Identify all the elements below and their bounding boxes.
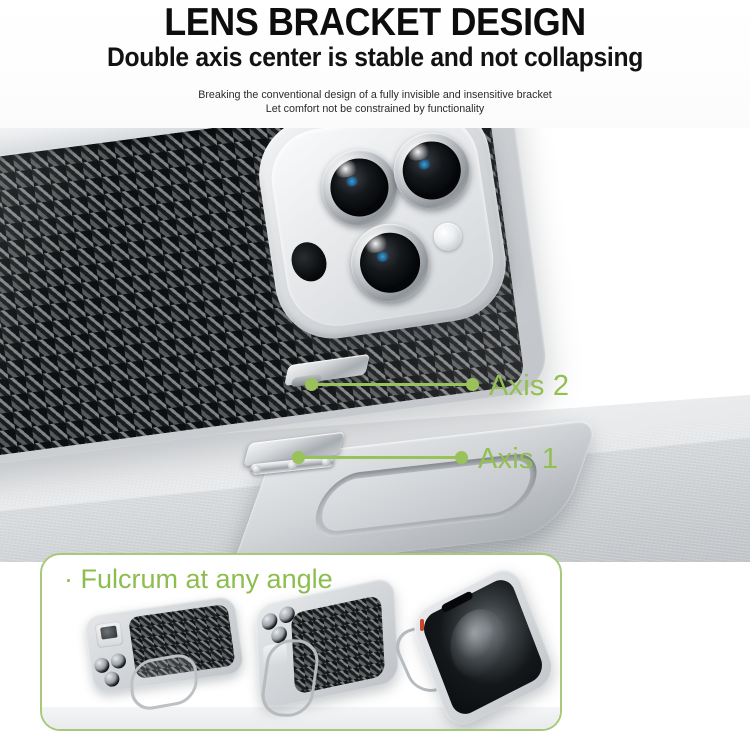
callout-label-axis-2: Axis 2 bbox=[489, 371, 569, 401]
description-line-2: Let comfort not be constrained by functi… bbox=[23, 102, 728, 117]
angle-demo-2 bbox=[238, 585, 423, 717]
demo3-case bbox=[408, 562, 558, 731]
camera-island bbox=[251, 122, 514, 346]
description-line-1: Breaking the conventional design of a fu… bbox=[23, 88, 728, 103]
leader-dot-origin-axis-1 bbox=[292, 451, 305, 464]
leader-dot-end-axis-1 bbox=[455, 451, 468, 464]
leader-dot-origin-axis-2 bbox=[305, 378, 318, 391]
header-block: LENS BRACKET DESIGN Double axis center i… bbox=[0, 0, 750, 128]
demo3-screen bbox=[419, 575, 546, 720]
page-subtitle: Double axis center is stable and not col… bbox=[26, 42, 724, 72]
camera-lens-3 bbox=[346, 218, 435, 307]
demo3-action-button bbox=[420, 619, 424, 631]
product-hero-scene: Axis 2 Axis 1 bbox=[0, 122, 750, 562]
hinge-pin-dot bbox=[252, 464, 262, 474]
microphone-cutout bbox=[286, 237, 333, 287]
leader-line-axis-2 bbox=[311, 383, 473, 386]
demo2-lens-2 bbox=[279, 605, 295, 625]
callout-label-axis-1: Axis 1 bbox=[478, 444, 558, 474]
angle-demo-1 bbox=[78, 593, 250, 711]
fulcrum-panel: · Fulcrum at any angle bbox=[40, 553, 562, 731]
leader-dot-end-axis-2 bbox=[466, 378, 479, 391]
demo1-logo-badge bbox=[95, 621, 124, 648]
demo1-lens-3 bbox=[103, 671, 120, 688]
product-marketing-image: LENS BRACKET DESIGN Double axis center i… bbox=[0, 0, 750, 750]
camera-lens-1 bbox=[316, 144, 403, 231]
camera-lens-2 bbox=[388, 127, 475, 214]
flash-module bbox=[432, 221, 464, 253]
demo1-lens-2 bbox=[110, 653, 127, 670]
page-title: LENS BRACKET DESIGN bbox=[30, 2, 720, 44]
leader-line-axis-1 bbox=[298, 456, 462, 459]
camera-island-inner bbox=[265, 122, 500, 333]
angle-demo-3 bbox=[414, 579, 562, 719]
